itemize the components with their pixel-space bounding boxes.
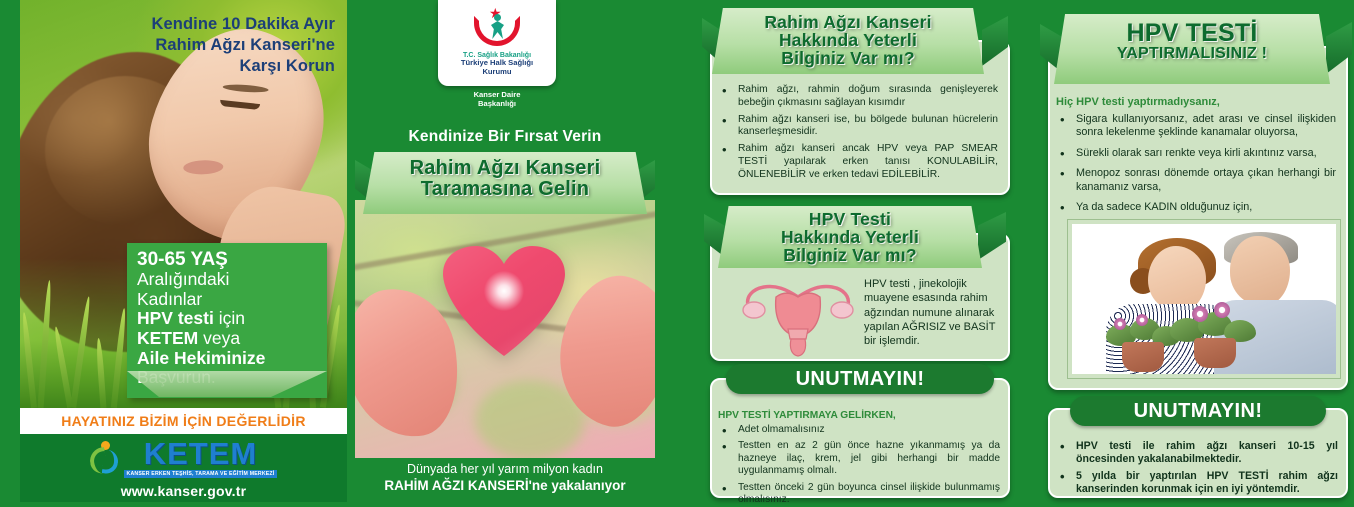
figure-body bbox=[491, 21, 504, 39]
website-url[interactable]: www.kanser.gov.tr bbox=[121, 483, 247, 499]
flower bbox=[1114, 318, 1126, 330]
figure-head bbox=[494, 14, 501, 21]
cervical-cancer-bullet-list: Rahim ağzı, rahmin doğum sırasında geniş… bbox=[718, 84, 998, 181]
panel1-title-line-1: Rahim Ağzı Kanseri bbox=[712, 13, 984, 31]
list-item: Adet olmamalısınız bbox=[718, 424, 1000, 436]
list-item: Testten önceki 2 gün boyunca cinsel iliş… bbox=[718, 482, 1000, 507]
list-item: Rahim ağzı kanseri ise, bu bölgede bulun… bbox=[718, 114, 998, 140]
remember-bullet-list-column4: HPV testi ile rahim ağzı kanseri 10-15 y… bbox=[1056, 440, 1338, 497]
brochure-canvas: Kendine 10 Dakika Ayır Rahim Ağzı Kanser… bbox=[0, 0, 1354, 502]
potted-plant-right bbox=[1168, 304, 1260, 368]
panel1-title-line-3: Bilginiz Var mı? bbox=[712, 49, 984, 67]
ketem-word-text: KETEM bbox=[144, 438, 258, 469]
ketem-bold: KETEM bbox=[137, 328, 198, 348]
ketem-blue-arc bbox=[101, 449, 118, 474]
panel4-ribbon-text: HPV TESTİ YAPTIRMALISINIZ ! bbox=[1054, 14, 1330, 63]
panel2-title-line-2: Hakkında Yeterli bbox=[718, 228, 982, 246]
center-caption-line-1: Dünyada her yıl yarım milyon kadın bbox=[355, 462, 655, 478]
list-item: Rahim ağzı kanseri ancak HPV veya PAP SM… bbox=[718, 143, 998, 181]
list-item: Sigara kullanıyorsanız, adet arası ve ci… bbox=[1056, 113, 1336, 140]
headline-line-2: Rahim Ağzı Kanseri'ne bbox=[60, 35, 335, 56]
indications-bullet-list: Sigara kullanıyorsanız, adet arası ve ci… bbox=[1056, 113, 1336, 214]
center-panel: ★ T.C. Sağlık Bakanlığı Türkiye Halk Sağ… bbox=[355, 0, 655, 502]
age-range-text: 30-65 YAŞ bbox=[137, 249, 317, 270]
hpv-test-indications-panel: Hiç HPV testi yaptırmadıysanız, Sigara k… bbox=[1048, 46, 1348, 390]
hpv-test-description: HPV testi , jinekolojik muayene esasında… bbox=[864, 277, 1006, 348]
man-face bbox=[1230, 236, 1290, 306]
remember-title-column3: UNUTMAYIN! bbox=[796, 368, 925, 391]
flower bbox=[1192, 306, 1208, 322]
ministry-emblem-icon: ★ bbox=[470, 6, 524, 50]
photo-eyebrow bbox=[222, 83, 268, 93]
department-line-1: Kanser Daire bbox=[438, 90, 556, 99]
list-item: 5 yılda bir yaptırılan HPV TESTİ rahim a… bbox=[1056, 470, 1338, 496]
panel4-title-line-1: HPV TESTİ bbox=[1054, 20, 1330, 46]
center-ribbon-line-2: Taramasına Gelin bbox=[363, 179, 647, 200]
hands-holding-heart-photo bbox=[355, 200, 655, 458]
center-caption-line-2: RAHİM AĞZI KANSERİ'ne yakalanıyor bbox=[355, 478, 655, 495]
list-item: HPV testi ile rahim ağzı kanseri 10-15 y… bbox=[1056, 440, 1338, 466]
remember-bullet-list-column3: Adet olmamalısınız Testten en az 2 gün ö… bbox=[718, 424, 1000, 507]
remember-title-pill-column4: UNUTMAYIN! bbox=[1070, 396, 1326, 426]
panel4-ribbon-banner: HPV TESTİ YAPTIRMALISINIZ ! bbox=[1054, 14, 1330, 84]
panel2-ribbon-text: HPV Testi Hakkında Yeterli Bilginiz Var … bbox=[718, 206, 982, 265]
center-ribbon-text: Rahim Ağzı Kanseri Taramasına Gelin bbox=[363, 152, 647, 200]
age-range-sub2: Kadınlar bbox=[137, 290, 317, 310]
headline-line-3: Karşı Korun bbox=[60, 56, 335, 77]
indications-lead-text: Hiç HPV testi yaptırmadıysanız, bbox=[1056, 96, 1336, 108]
woman-face bbox=[1148, 246, 1206, 312]
column-three: Rahim ağzı, rahmin doğum sırasında geniş… bbox=[700, 0, 1020, 502]
elderly-couple-photo bbox=[1068, 220, 1340, 378]
department-label: Kanser Daire Başkanlığı bbox=[438, 90, 556, 108]
ketem-logo: KETEM KANSER ERKEN TEŞHİS, TARAMA VE EĞİ… bbox=[90, 438, 278, 478]
left-poster-panel: Kendine 10 Dakika Ayır Rahim Ağzı Kanser… bbox=[20, 0, 347, 502]
center-kicker-text: Kendinize Bir Fırsat Verin bbox=[355, 128, 655, 146]
panel2-title-line-3: Bilginiz Var mı? bbox=[718, 246, 982, 264]
ministry-of-health-logo-card: ★ T.C. Sağlık Bakanlığı Türkiye Halk Sağ… bbox=[438, 0, 556, 86]
remember-title-pill-column3: UNUTMAYIN! bbox=[726, 364, 994, 394]
remember-title-column4: UNUTMAYIN! bbox=[1134, 400, 1263, 423]
heart-sparkle bbox=[481, 268, 527, 314]
family-doctor-line: Aile Hekiminize bbox=[137, 349, 317, 369]
ministry-line-3: Kurumu bbox=[482, 68, 511, 77]
hpv-test-bold: HPV testi bbox=[137, 308, 214, 328]
list-item: Menopoz sonrası dönemde ortaya çıkan her… bbox=[1056, 167, 1336, 194]
list-item: Sürekli olarak sarı renkte veya kirli ak… bbox=[1056, 147, 1336, 160]
panel1-title-line-2: Hakkında Yeterli bbox=[712, 31, 984, 49]
panel1-ribbon-banner: Rahim Ağzı Kanseri Hakkında Yeterli Bilg… bbox=[712, 8, 984, 74]
remember-lead-text: HPV TESTİ YAPTIRMAYA GELİRKEN, bbox=[718, 410, 1000, 421]
ketem-wordmark: KETEM KANSER ERKEN TEŞHİS, TARAMA VE EĞİ… bbox=[124, 438, 278, 478]
panel1-ribbon-text: Rahim Ağzı Kanseri Hakkında Yeterli Bilg… bbox=[712, 8, 984, 68]
ketem-logo-area: KETEM KANSER ERKEN TEŞHİS, TARAMA VE EĞİ… bbox=[20, 434, 347, 502]
column-four: Hiç HPV testi yaptırmadıysanız, Sigara k… bbox=[1040, 0, 1354, 502]
panel2-title-line-1: HPV Testi bbox=[718, 210, 982, 228]
center-caption: Dünyada her yıl yarım milyon kadın RAHİM… bbox=[355, 462, 655, 495]
panel4-title-line-2: YAPTIRMALISINIZ ! bbox=[1054, 46, 1330, 63]
department-line-2: Başkanlığı bbox=[438, 99, 556, 108]
list-item: Rahim ağzı, rahmin doğum sırasında geniş… bbox=[718, 84, 998, 110]
flower bbox=[1214, 302, 1230, 318]
remember-panel-column3: HPV TESTİ YAPTIRMAYA GELİRKEN, Adet olma… bbox=[710, 378, 1010, 498]
human-figure-icon bbox=[490, 14, 504, 40]
flower bbox=[1136, 314, 1148, 326]
flower-pot bbox=[1122, 342, 1164, 372]
ketem-subtitle: KANSER ERKEN TEŞHİS, TARAMA VE EĞİTİM ME… bbox=[124, 470, 278, 478]
center-ribbon-line-1: Rahim Ağzı Kanseri bbox=[363, 158, 647, 179]
list-item: Ya da sadece KADIN olduğunuz için, bbox=[1056, 201, 1336, 214]
hpv-test-rest: için bbox=[214, 308, 245, 328]
paper-heart bbox=[443, 246, 565, 356]
ketem-rest: veya bbox=[198, 328, 240, 348]
age-range-sub1: Aralığındaki bbox=[137, 270, 317, 290]
center-ribbon-banner: Rahim Ağzı Kanseri Taramasına Gelin bbox=[363, 152, 647, 214]
list-item: Testten en az 2 gün önce hazne yıkanmamı… bbox=[718, 440, 1000, 477]
photo-lips bbox=[183, 160, 223, 175]
ketem-line: KETEM veya bbox=[137, 329, 317, 349]
value-banner-text: HAYATINIZ BİZİM İÇİN DEĞERLİDİR bbox=[61, 413, 305, 429]
photo-eye bbox=[220, 100, 260, 110]
family-doctor-bold: Aile Hekiminize bbox=[137, 348, 265, 368]
value-banner: HAYATINIZ BİZİM İÇİN DEĞERLİDİR bbox=[20, 408, 347, 434]
panel2-ribbon-banner: HPV Testi Hakkında Yeterli Bilginiz Var … bbox=[718, 206, 982, 268]
flower-pot bbox=[1194, 338, 1236, 368]
headline-line-1: Kendine 10 Dakika Ayır bbox=[60, 14, 335, 35]
ketem-figure-icon bbox=[90, 441, 120, 475]
uterus-illustration-icon bbox=[728, 279, 868, 357]
left-poster-headline: Kendine 10 Dakika Ayır Rahim Ağzı Kanser… bbox=[60, 14, 335, 77]
hpv-test-line: HPV testi için bbox=[137, 309, 317, 329]
